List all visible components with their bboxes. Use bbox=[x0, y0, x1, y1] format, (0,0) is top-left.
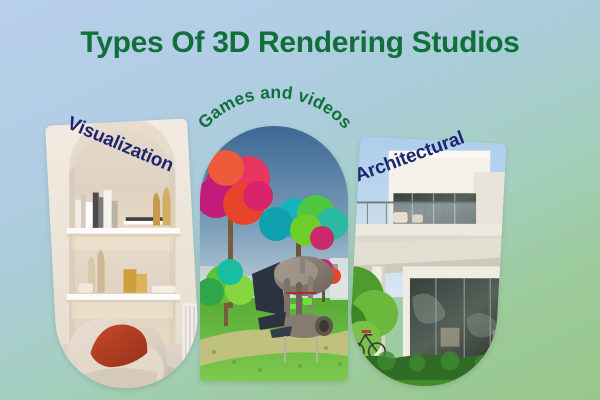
interior-visualization-image bbox=[45, 118, 201, 391]
label-games-and-videos-text: Games and videos bbox=[194, 82, 357, 133]
panel-visualization[interactable] bbox=[45, 118, 201, 391]
page-title: Types Of 3D Rendering Studios bbox=[0, 26, 600, 60]
poster-canvas: Types Of 3D Rendering Studios bbox=[0, 0, 600, 400]
label-games-and-videos: Games and videos bbox=[182, 96, 368, 186]
